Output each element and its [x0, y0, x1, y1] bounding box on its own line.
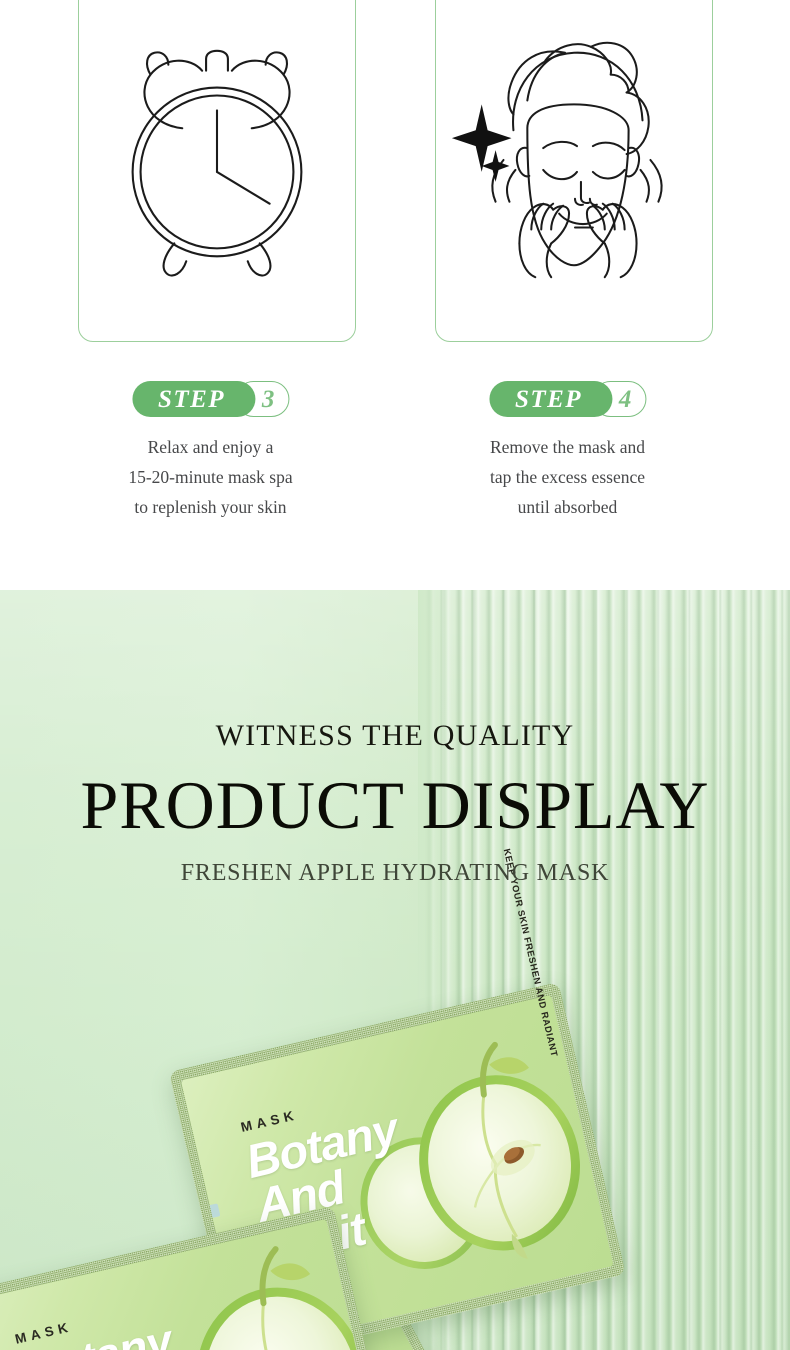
product-display-headline-block: WITNESS THE QUALITY PRODUCT DISPLAY FRES…	[0, 590, 790, 885]
step-3-word: STEP	[158, 387, 225, 412]
step-4-caption: Remove the mask and tap the excess essen…	[389, 432, 746, 522]
step-3-caption-line-2: 15-20-minute mask spa	[32, 462, 389, 492]
step-3-number: 3	[262, 387, 275, 412]
headline-eyebrow: WITNESS THE QUALITY	[0, 721, 790, 751]
alarm-clock-icon	[79, 0, 355, 341]
step-4-badge: STEP 4	[489, 381, 646, 417]
step-4-illustration-card	[435, 0, 713, 342]
step-4-word: STEP	[515, 387, 582, 412]
step-4-badge-word-pill: STEP	[489, 381, 612, 417]
step-3-caption-line-3: to replenish your skin	[32, 492, 389, 522]
step-4-caption-line-3: until absorbed	[389, 492, 746, 522]
step-3-illustration-card	[78, 0, 356, 342]
page-title: PRODUCT DISPLAY	[0, 771, 790, 839]
product-display-section: WITNESS THE QUALITY PRODUCT DISPLAY FRES…	[0, 590, 790, 1350]
face-mask-removal-icon	[436, 0, 712, 341]
step-3-badge-word-pill: STEP	[132, 381, 255, 417]
step-3-caption: Relax and enjoy a 15-20-minute mask spa …	[32, 432, 389, 522]
steps-section: STEP 3 Relax and enjoy a 15-20-minute ma…	[0, 0, 790, 590]
step-3-caption-line-1: Relax and enjoy a	[32, 432, 389, 462]
step-4-caption-line-2: tap the excess essence	[389, 462, 746, 492]
step-3-badge: STEP 3	[132, 381, 289, 417]
headline-subtitle: FRESHEN APPLE HYDRATING MASK	[0, 861, 790, 885]
sparkle-icon	[452, 104, 512, 181]
step-card-4: STEP 4 Remove the mask and tap the exces…	[389, 0, 746, 590]
step-4-caption-line-1: Remove the mask and	[389, 432, 746, 462]
step-card-3: STEP 3 Relax and enjoy a 15-20-minute ma…	[32, 0, 389, 590]
step-4-number: 4	[619, 387, 632, 412]
